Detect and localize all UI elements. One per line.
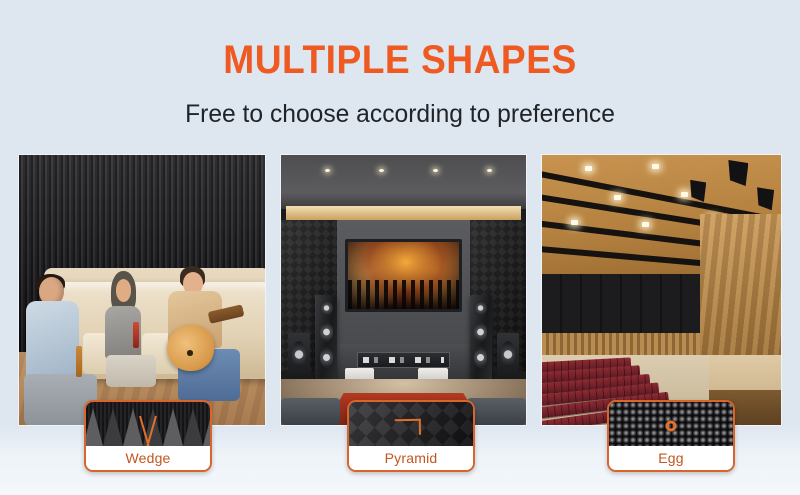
- cove-lighting: [286, 206, 521, 220]
- ceiling-light: [681, 192, 688, 197]
- badge-label-pyramid: Pyramid: [349, 446, 473, 470]
- ceiling-light: [614, 195, 621, 200]
- badge-label-wedge: Wedge: [86, 446, 210, 470]
- photo-panel-living-room: [19, 155, 265, 425]
- shape-badge-wedge[interactable]: Wedge: [84, 400, 212, 472]
- ceiling-light: [585, 166, 592, 171]
- speaker-driver: [474, 347, 487, 368]
- torso: [26, 301, 80, 380]
- tower-speaker-left: [315, 295, 337, 384]
- photo-panel-auditorium: [542, 155, 781, 425]
- hanging-speaker: [690, 180, 706, 202]
- person-playing-guitar: [162, 266, 246, 401]
- dark-acoustic-wall: [542, 274, 705, 339]
- egg-crate-foam-icon: [609, 402, 733, 450]
- subwoofer-left: [288, 333, 310, 379]
- ceiling-spotlight: [379, 169, 384, 172]
- speaker-driver: [320, 347, 333, 368]
- projection-screen: [345, 239, 463, 312]
- seating-right: [467, 398, 526, 425]
- ceiling-light: [571, 220, 578, 225]
- wedge-highlight-icon: [139, 418, 157, 448]
- wedge-foam-icon: [86, 402, 210, 450]
- living-room-scene: [19, 155, 265, 425]
- badge-label-egg: Egg: [609, 446, 733, 470]
- speaker-driver: [320, 322, 333, 342]
- drink-bottle: [133, 322, 138, 348]
- shape-badge-egg[interactable]: Egg: [607, 400, 735, 472]
- drink-bottle: [76, 346, 83, 376]
- ceiling-spotlight: [325, 169, 330, 172]
- pyramid-foam-icon: [349, 402, 473, 450]
- ceiling-light: [652, 164, 659, 169]
- ceiling: [281, 155, 526, 209]
- tower-speaker-right: [470, 295, 492, 384]
- av-receiver-rack: [357, 352, 450, 368]
- hanging-speaker: [757, 187, 774, 210]
- legs: [106, 355, 156, 388]
- ceiling-light: [642, 222, 649, 227]
- acoustic-guitar: [167, 325, 214, 371]
- page-title: MULTIPLE SHAPES: [28, 38, 772, 83]
- hanging-speaker: [728, 160, 748, 186]
- speaker-driver: [474, 322, 487, 342]
- shape-badge-pyramid[interactable]: Pyramid: [347, 400, 475, 472]
- promo-banner: MULTIPLE SHAPES Free to choose according…: [0, 0, 800, 495]
- speaker-driver: [320, 301, 333, 315]
- ceiling-spotlight: [487, 169, 492, 172]
- egg-highlight-icon: [666, 421, 677, 432]
- ceiling-spotlight: [433, 169, 438, 172]
- auditorium-scene: [542, 155, 781, 425]
- concert-footage: [348, 242, 460, 309]
- person-seated-center: [100, 271, 159, 387]
- speaker-driver: [474, 301, 487, 315]
- page-subtitle: Free to choose according to preference: [6, 100, 794, 129]
- seating-left: [281, 398, 340, 425]
- home-theater-scene: [281, 155, 526, 425]
- pyramid-highlight-icon: [395, 419, 421, 435]
- subwoofer-right: [497, 333, 519, 379]
- guitar-sound-hole: [187, 350, 193, 356]
- photo-panel-home-theater: [281, 155, 526, 425]
